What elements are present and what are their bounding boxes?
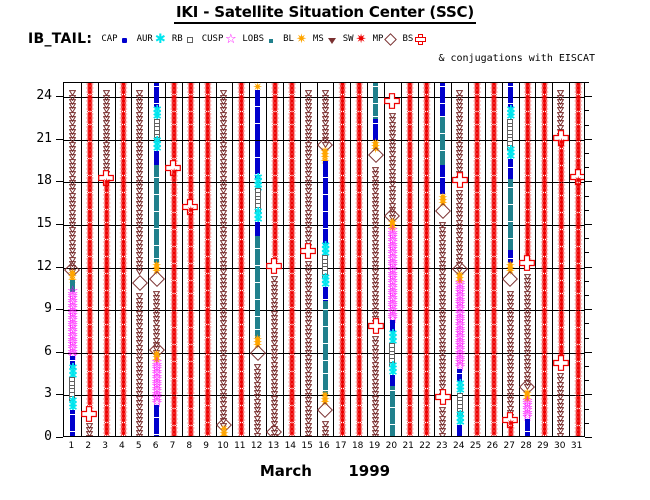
- y-tick-label: 12: [22, 259, 52, 274]
- page-title: IKI - Satellite Situation Center (SSC): [0, 3, 650, 21]
- legend-item-ms: MS: [313, 33, 338, 46]
- y-tick-right: [585, 267, 592, 268]
- legend-item-cap: CAP: [101, 33, 131, 46]
- y-tick-minor: [585, 295, 589, 296]
- legend-item-aur: AUR✱: [137, 33, 167, 46]
- page-title-text: IKI - Satellite Situation Center (SSC): [174, 3, 476, 24]
- y-tick-minor: [585, 409, 589, 410]
- legend-item-sw: SW✷: [343, 33, 368, 46]
- y-tick-label: 3: [22, 386, 52, 401]
- legend-subnote: & conjugations with EISCAT: [438, 53, 595, 64]
- y-tick-right: [585, 437, 592, 438]
- x-axis-title: March 1999: [0, 462, 650, 480]
- y-tick-label: 0: [22, 429, 52, 444]
- y-tick-minor: [585, 153, 589, 154]
- legend-item-label: RB: [172, 34, 183, 44]
- y-tick: [56, 309, 63, 310]
- y-tick-minor: [585, 82, 589, 83]
- y-tick-label: 24: [22, 88, 52, 103]
- y-tick-label: 9: [22, 301, 52, 316]
- y-tick-label: 18: [22, 173, 52, 188]
- mp-marker-icon: [384, 33, 397, 46]
- y-tick: [56, 437, 63, 438]
- y-tick-minor: [585, 110, 589, 111]
- x-axis-month: March: [260, 462, 312, 480]
- y-tick-minor: [585, 323, 589, 324]
- y-tick-right: [585, 309, 592, 310]
- y-tick: [56, 139, 63, 140]
- y-tick-minor: [585, 366, 589, 367]
- legend-item-label: BS: [402, 34, 413, 44]
- x-axis-year: 1999: [348, 462, 390, 480]
- x-tick-label: 31: [566, 441, 588, 451]
- legend-item-label: AUR: [137, 34, 153, 44]
- chart-root: IKI - Satellite Situation Center (SSC) I…: [0, 0, 650, 500]
- y-tick-minor: [585, 238, 589, 239]
- y-tick-label: 6: [22, 344, 52, 359]
- y-tick-minor: [585, 281, 589, 282]
- aur-marker-icon: ✱: [154, 33, 167, 46]
- y-tick-minor: [585, 338, 589, 339]
- legend-item-label: CAP: [101, 34, 117, 44]
- legend-item-mp: MP: [373, 33, 398, 46]
- plot-area: ✷✷✷☆☆☆☆☆☆☆☆☆☆☆☆☆☆☆☆☆☆☆☆☆☆☆☆☆☆☆☆✱✱✱✱✱✱✷✷✷…: [63, 82, 585, 437]
- legend-title: IB_TAIL:: [28, 31, 92, 47]
- legend-item-cusp: CUSP☆: [202, 33, 238, 46]
- y-tick-right: [585, 224, 592, 225]
- legend-item-label: CUSP: [202, 34, 224, 44]
- y-tick-minor: [585, 125, 589, 126]
- ms-marker-icon: [325, 33, 338, 46]
- legend-item-label: MS: [313, 34, 324, 44]
- lobs-marker-icon: [265, 33, 278, 46]
- legend-item-label: LOBS: [242, 34, 264, 44]
- marker-cap: [70, 436, 75, 437]
- y-tick-minor: [585, 167, 589, 168]
- y-tick: [56, 394, 63, 395]
- rb-marker-icon: [184, 33, 197, 46]
- y-tick: [56, 352, 63, 353]
- y-tick-right: [585, 394, 592, 395]
- cusp-marker-icon: ☆: [224, 33, 237, 46]
- y-tick-minor: [585, 252, 589, 253]
- y-tick: [56, 181, 63, 182]
- y-tick-minor: [585, 380, 589, 381]
- bs-marker-icon: [414, 33, 427, 46]
- y-tick: [56, 224, 63, 225]
- legend-item-rb: RB: [172, 33, 197, 46]
- legend-item-bs: BS: [402, 33, 427, 46]
- cap-marker-icon: [119, 33, 132, 46]
- marker-cap: [525, 436, 530, 437]
- y-tick: [56, 267, 63, 268]
- y-tick-minor: [585, 423, 589, 424]
- y-tick-label: 15: [22, 216, 52, 231]
- bl-marker-icon: ✷: [295, 33, 308, 46]
- y-tick-minor: [585, 210, 589, 211]
- legend-item-bl: BL✷: [283, 33, 308, 46]
- y-tick-right: [585, 352, 592, 353]
- y-tick-right: [585, 139, 592, 140]
- y-tick-minor: [585, 196, 589, 197]
- y-tick: [56, 96, 63, 97]
- legend-item-lobs: LOBS: [242, 33, 278, 46]
- y-tick-right: [585, 181, 592, 182]
- legend-item-label: SW: [343, 34, 354, 44]
- sw-marker-icon: ✷: [355, 33, 368, 46]
- day-column-26.5: [64, 83, 584, 436]
- legend: IB_TAIL: CAPAUR✱RBCUSP☆LOBSBL✷MSSW✷MPBS: [28, 31, 432, 47]
- y-tick-right: [585, 96, 592, 97]
- legend-item-label: MP: [373, 34, 384, 44]
- y-tick-label: 21: [22, 131, 52, 146]
- legend-items: CAPAUR✱RBCUSP☆LOBSBL✷MSSW✷MPBS: [101, 33, 432, 46]
- legend-item-label: BL: [283, 34, 294, 44]
